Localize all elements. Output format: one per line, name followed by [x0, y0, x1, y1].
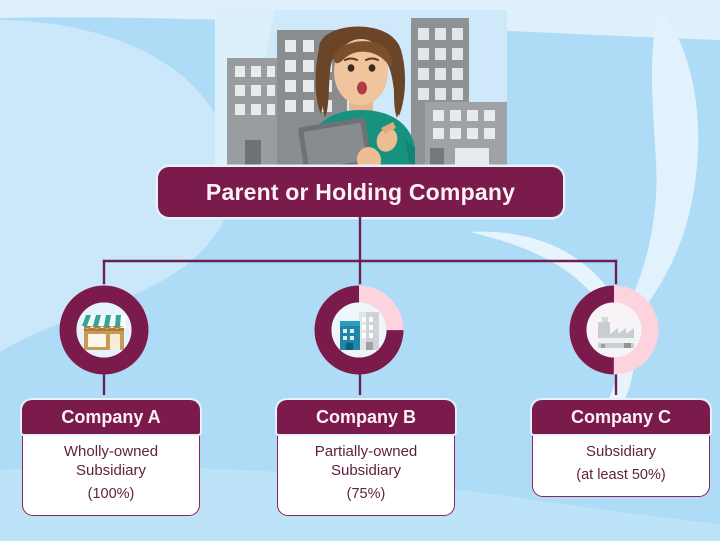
ownership-ring-company-b[interactable]	[311, 282, 407, 378]
factory-icon	[588, 304, 640, 356]
company-b-percent: (75%)	[286, 485, 446, 504]
company-card-b[interactable]: Company B Partially-owned Subsidiary (75…	[277, 400, 455, 516]
office-building-icon	[333, 304, 385, 356]
storefront-icon	[78, 304, 130, 356]
company-c-title: Company C	[571, 407, 671, 428]
company-a-description-line2: Subsidiary	[31, 461, 191, 480]
company-a-percent: (100%)	[31, 485, 191, 504]
company-c-header: Company C	[532, 400, 710, 434]
company-b-body: Partially-owned Subsidiary (75%)	[277, 432, 455, 516]
company-a-title: Company A	[61, 407, 160, 428]
company-c-body: Subsidiary (at least 50%)	[532, 432, 710, 497]
ownership-ring-company-c[interactable]	[566, 282, 662, 378]
company-card-a[interactable]: Company A Wholly-owned Subsidiary (100%)	[22, 400, 200, 516]
company-b-title: Company B	[316, 407, 416, 428]
company-b-description-line2: Subsidiary	[286, 461, 446, 480]
businesswoman-with-tablet-illustration	[215, 10, 507, 175]
infographic-canvas: Parent or Holding Company	[0, 0, 720, 541]
company-card-c[interactable]: Company C Subsidiary (at least 50%)	[532, 400, 710, 497]
parent-company-label: Parent or Holding Company	[206, 179, 515, 206]
company-c-description-line1: Subsidiary	[541, 442, 701, 461]
company-b-description-line1: Partially-owned	[286, 442, 446, 461]
company-a-body: Wholly-owned Subsidiary (100%)	[22, 432, 200, 516]
company-a-description-line1: Wholly-owned	[31, 442, 191, 461]
company-b-header: Company B	[277, 400, 455, 434]
company-c-percent: (at least 50%)	[541, 466, 701, 485]
ownership-ring-company-a[interactable]	[56, 282, 152, 378]
company-a-header: Company A	[22, 400, 200, 434]
